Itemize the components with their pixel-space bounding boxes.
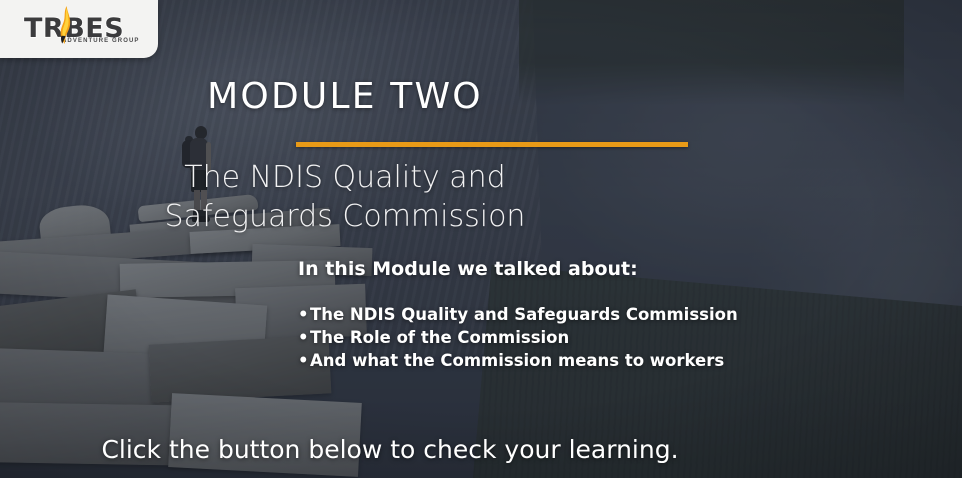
- brand-logo: TRBES ADVENTURE GROUP: [0, 0, 158, 58]
- subtitle-line-1: The NDIS Quality and: [0, 158, 690, 197]
- slide-canvas: TRBES ADVENTURE GROUP MODULE TWO The NDI…: [0, 0, 962, 478]
- summary-lead-in: In this Module we talked about:: [298, 258, 638, 280]
- summary-bullet-list: The NDIS Quality and Safeguards Commissi…: [298, 303, 738, 372]
- slide-content: MODULE TWO The NDIS Quality and Safeguar…: [0, 0, 962, 478]
- list-item: The Role of the Commission: [298, 326, 738, 349]
- page-title: MODULE TWO: [0, 76, 690, 117]
- slide-subtitle: The NDIS Quality and Safeguards Commissi…: [0, 158, 690, 236]
- title-divider: [296, 142, 688, 147]
- subtitle-line-2: Safeguards Commission: [0, 197, 690, 236]
- list-item: The NDIS Quality and Safeguards Commissi…: [298, 303, 738, 326]
- list-item: And what the Commission means to workers: [298, 349, 738, 372]
- call-to-action-text: Click the button below to check your lea…: [0, 435, 780, 464]
- logo-tagline: ADVENTURE GROUP: [62, 38, 140, 44]
- flame-icon: [57, 6, 73, 44]
